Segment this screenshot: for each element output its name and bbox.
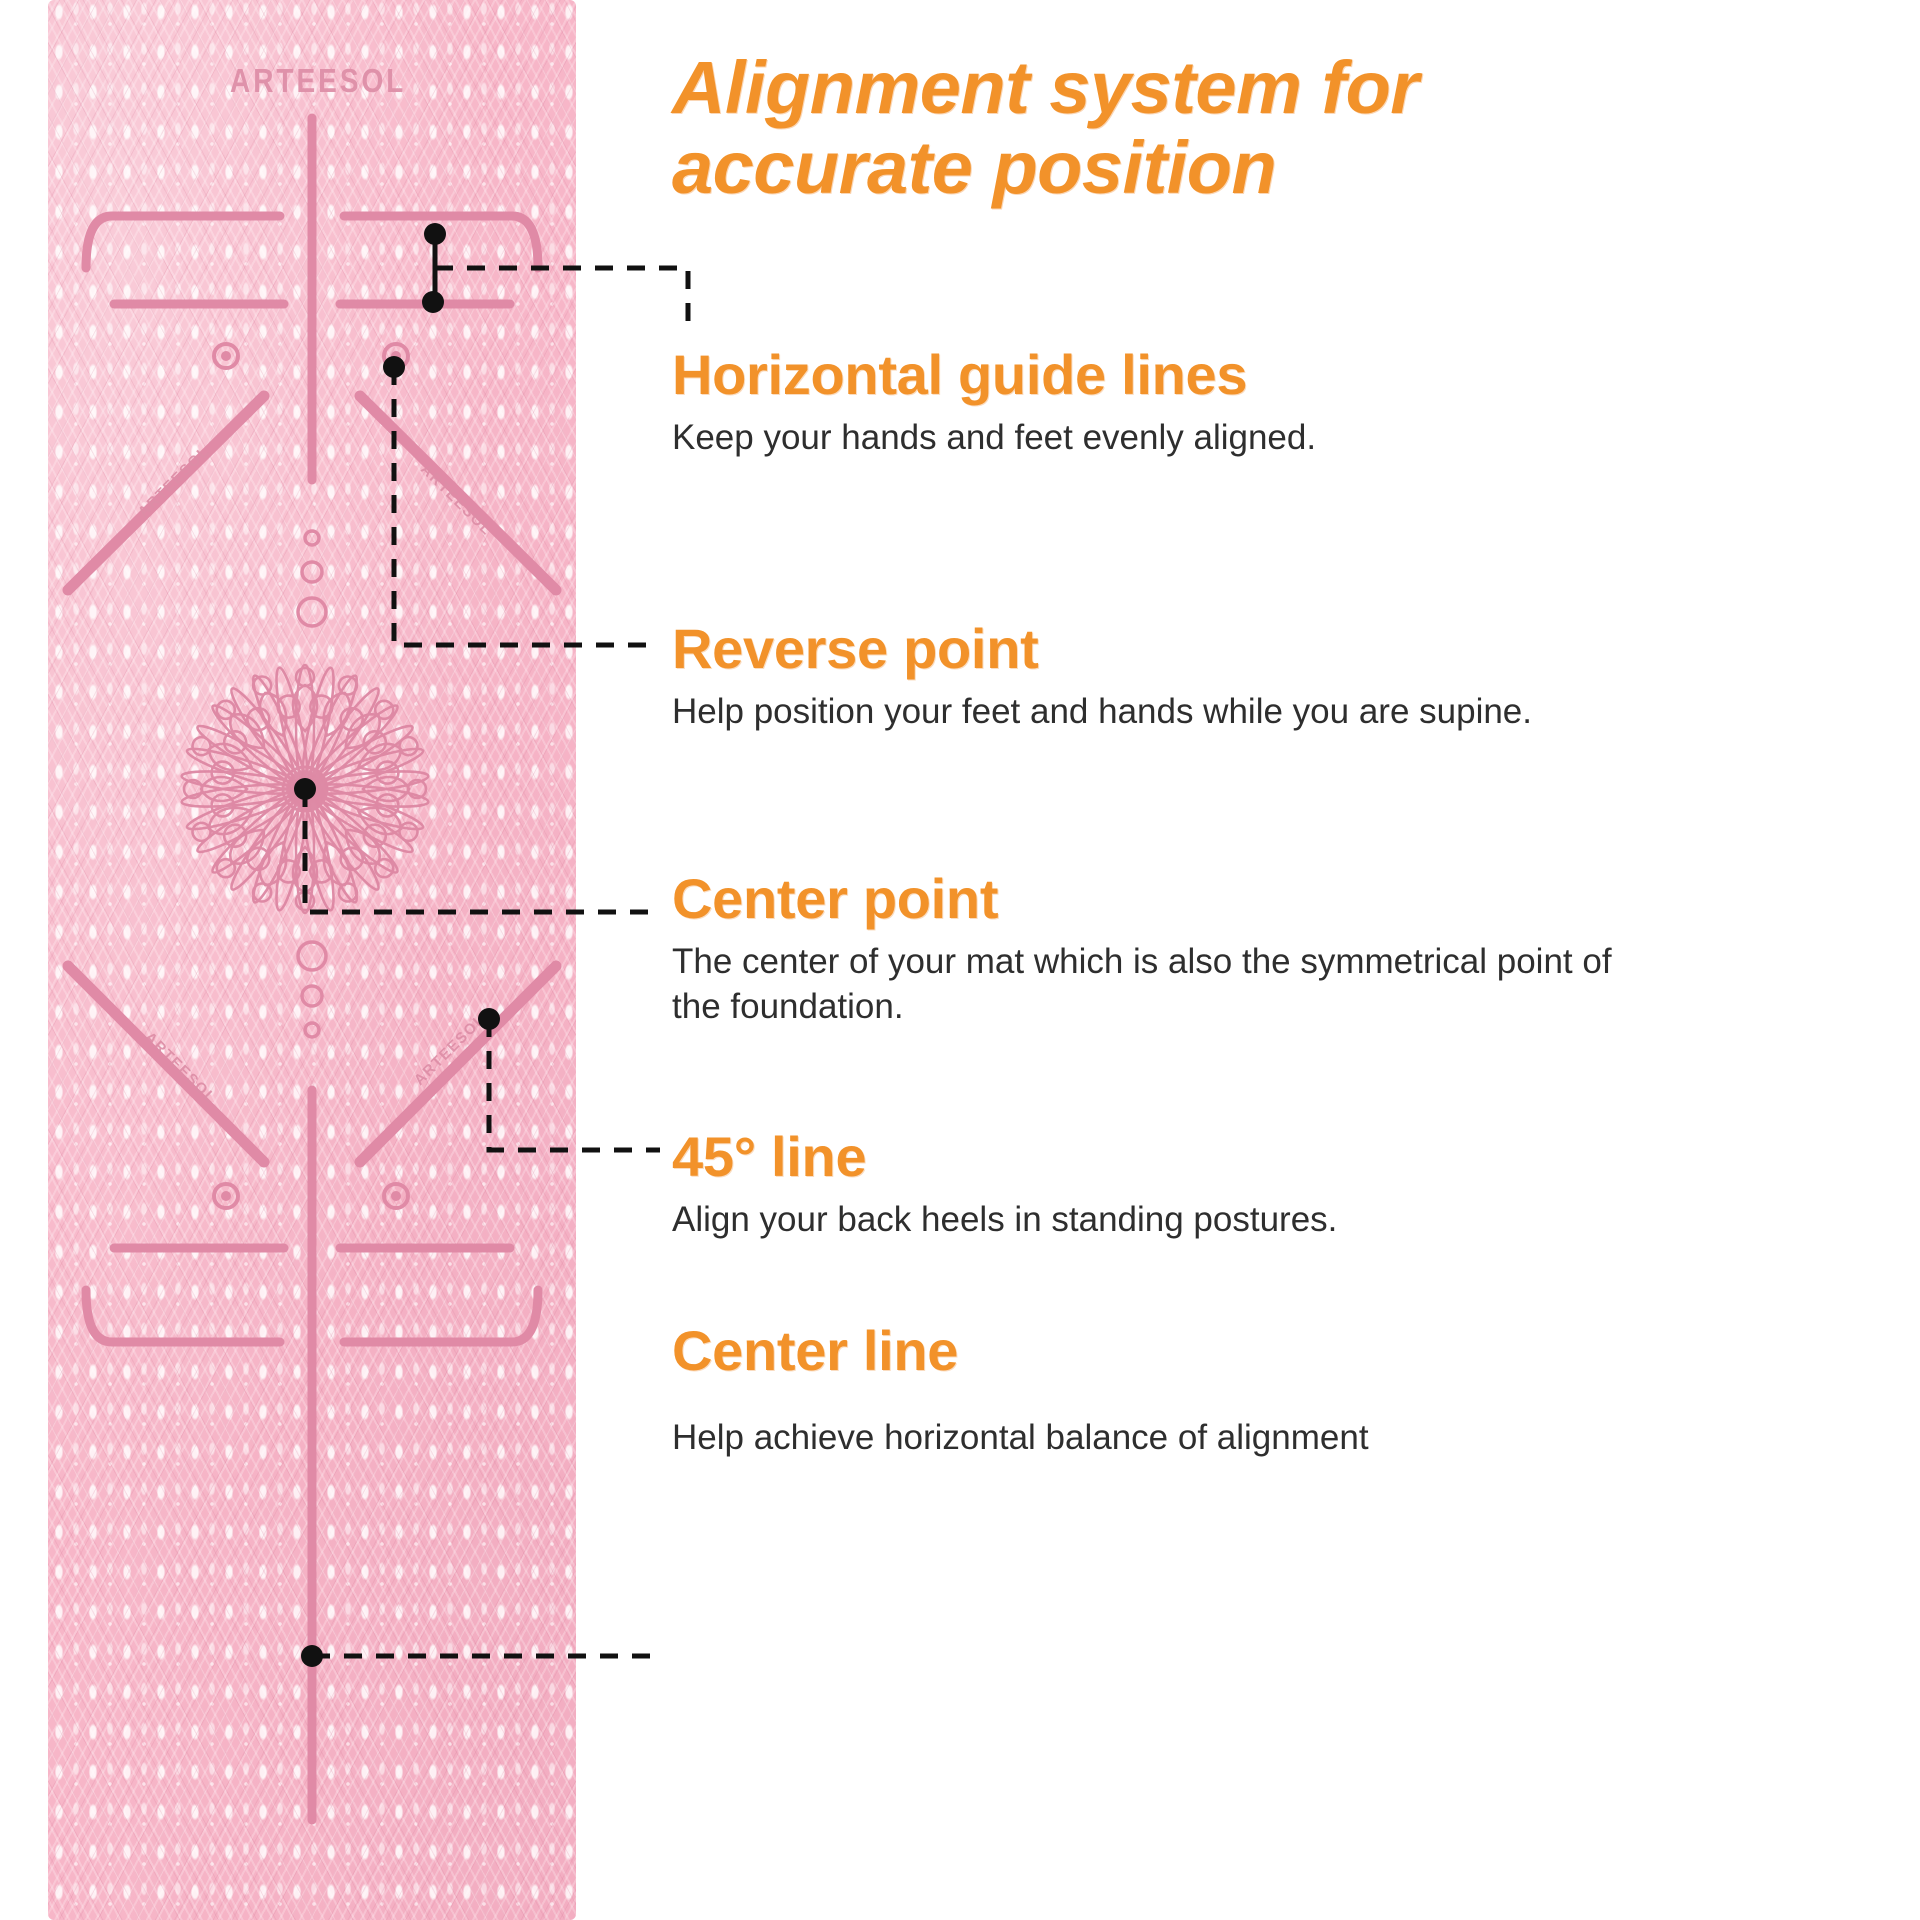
graduated-circle-u3 — [298, 598, 326, 626]
ring-marker-bottom-right-inner — [391, 1191, 401, 1201]
ring-marker-top-right-inner — [391, 351, 401, 361]
section-center-point: Center point The center of your mat whic… — [672, 870, 1822, 1030]
horizontal-guide-upper-left — [86, 216, 280, 268]
section-body-center-point: The center of your mat which is also the… — [672, 939, 1652, 1030]
section-45-degree-line: 45° line Align your back heels in standi… — [672, 1128, 1822, 1242]
graduated-circle-l1 — [298, 942, 326, 970]
graduated-circle-u1 — [305, 531, 319, 545]
mat-alignment-markings: ARTEESOL ARTEESOL ARTEESOL — [48, 0, 576, 1920]
mat-side-mark-upper-left: ARTEESOL — [135, 443, 213, 521]
mandala — [181, 665, 430, 913]
page-title-line-2: accurate position — [672, 128, 1852, 208]
page-title-line-1: Alignment system for — [672, 48, 1852, 128]
section-heading-center-line: Center line — [672, 1322, 1822, 1381]
section-body-reverse-point: Help position your feet and hands while … — [672, 689, 1682, 735]
section-center-line: Center line Help achieve horizontal bala… — [672, 1322, 1822, 1460]
graduated-circle-u2 — [302, 562, 322, 582]
ring-marker-top-left-inner — [221, 351, 231, 361]
forty-five-line-lower-right — [360, 966, 556, 1162]
horizontal-guide-bottom-lower-left — [86, 1290, 280, 1342]
horizontal-guide-bottom-lower-right — [344, 1290, 538, 1342]
graduated-circle-l3 — [305, 1023, 319, 1037]
mat-side-mark-upper-right: ARTEESOL — [417, 461, 495, 539]
yoga-mat: ARTEESOL ARTEESOL ARTEESOL — [48, 0, 576, 1920]
section-body-horizontal-guide-lines: Keep your hands and feet evenly aligned. — [672, 415, 1822, 461]
section-reverse-point: Reverse point Help position your feet an… — [672, 620, 1822, 734]
mat-side-mark-lower-left: ARTEESOL — [141, 1029, 219, 1107]
section-body-45-degree-line: Align your back heels in standing postur… — [672, 1197, 1822, 1243]
horizontal-guide-upper-right — [344, 216, 538, 268]
section-body-center-line: Help achieve horizontal balance of align… — [672, 1415, 1822, 1461]
ring-marker-bottom-left-inner — [221, 1191, 231, 1201]
graduated-circle-l2 — [302, 986, 322, 1006]
section-heading-45-degree-line: 45° line — [672, 1128, 1822, 1187]
section-heading-center-point: Center point — [672, 870, 1822, 929]
mat-logo: ARTEESOL — [230, 63, 406, 100]
page-title: Alignment system for accurate position — [672, 48, 1852, 208]
annotations-panel: Alignment system for accurate position H… — [672, 0, 1892, 1920]
section-heading-reverse-point: Reverse point — [672, 620, 1822, 679]
section-horizontal-guide-lines: Horizontal guide lines Keep your hands a… — [672, 346, 1822, 460]
section-heading-horizontal-guide-lines: Horizontal guide lines — [672, 346, 1822, 405]
